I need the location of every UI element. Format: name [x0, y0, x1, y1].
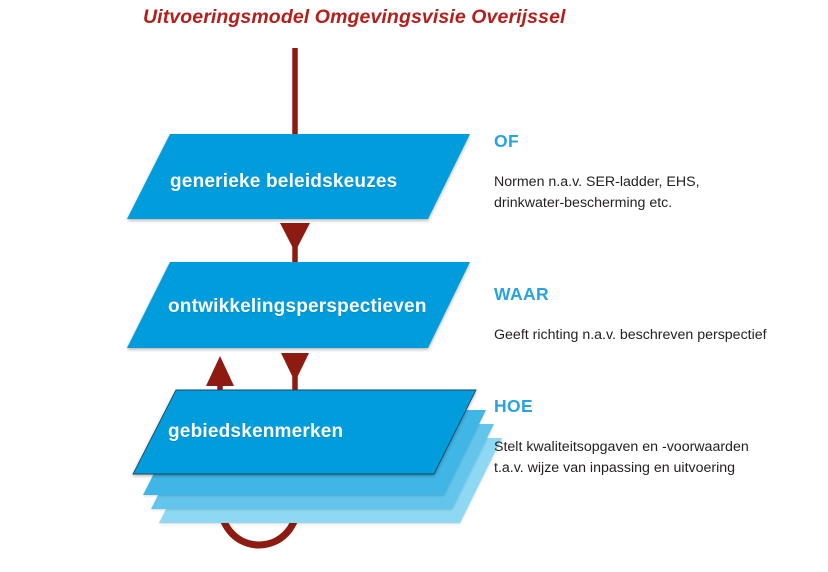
- annotation-heading-waar: WAAR: [494, 284, 814, 305]
- diagram-root: Uitvoeringsmodel Omgevingsvisie Overijss…: [0, 0, 828, 572]
- layer-label-ontwikkelingsperspectieven: ontwikkelingsperspectieven: [168, 296, 427, 318]
- annotation-body-hoe: Stelt kwaliteitsopgaven en -voorwaarden …: [494, 437, 814, 478]
- annotation-heading-hoe: HOE: [494, 396, 814, 417]
- annotation-hoe: HOE Stelt kwaliteitsopgaven en -voorwaar…: [494, 396, 814, 478]
- annotation-heading-of: OF: [494, 131, 814, 152]
- annotation-of: OF Normen n.a.v. SER-ladder, EHS, drinkw…: [494, 131, 814, 213]
- annotation-waar: WAAR Geeft richting n.a.v. beschreven pe…: [494, 284, 814, 346]
- layer-label-generieke-beleidskeuzes: generieke beleidskeuzes: [170, 171, 397, 193]
- layer-label-gebiedskenmerken: gebiedskenmerken: [168, 421, 343, 443]
- annotation-body-of: Normen n.a.v. SER-ladder, EHS, drinkwate…: [494, 172, 814, 213]
- annotation-body-waar: Geeft richting n.a.v. beschreven perspec…: [494, 325, 814, 346]
